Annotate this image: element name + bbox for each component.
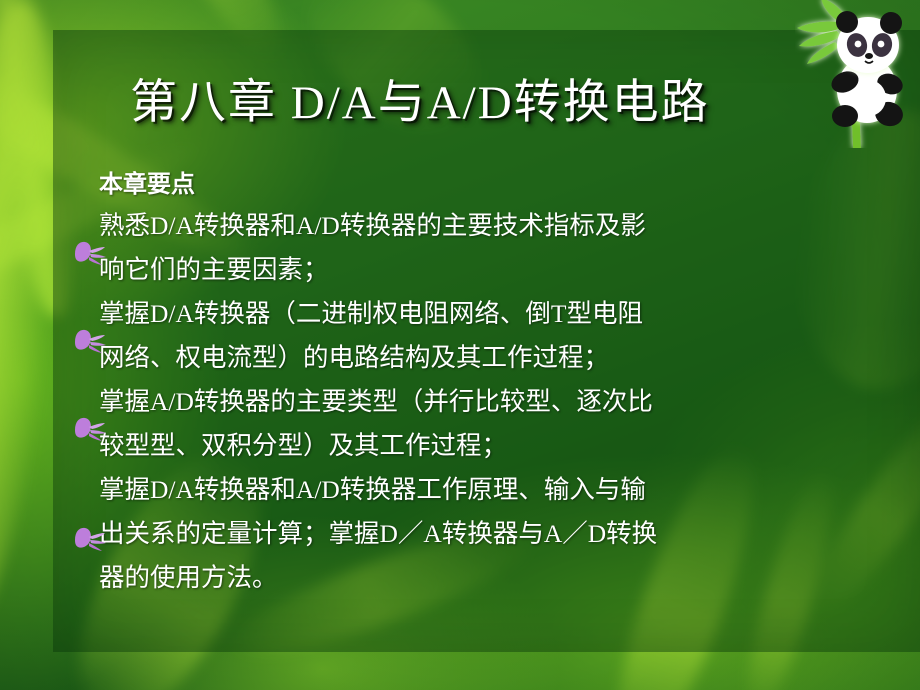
list-item: 熟悉D/A转换器和A/D转换器的主要技术指标及影 响它们的主要因素； (86, 204, 826, 292)
key-points-list: 熟悉D/A转换器和A/D转换器的主要技术指标及影 响它们的主要因素； 掌握D/A… (86, 204, 826, 600)
point-line: 较型型、双积分型）及其工作过程； (99, 424, 826, 468)
point-line: 出关系的定量计算；掌握D／A转换器与A／D转换 (99, 512, 826, 556)
list-item: 掌握D/A转换器和A/D转换器工作原理、输入与输 出关系的定量计算；掌握D／A转… (86, 468, 826, 600)
slide-title: 第八章 D/A与A/D转换电路 (130, 74, 850, 132)
slide-canvas: 第八章 D/A与A/D转换电路 本章要点 熟悉D/A转换器和A/D转换器的主要技… (0, 0, 920, 690)
slide-body: 本章要点 熟悉D/A转换器和A/D转换器的主要技术指标及影 响它们的主要因素； (86, 170, 826, 600)
point-line: 器的使用方法。 (99, 556, 826, 600)
list-item: 掌握A/D转换器的主要类型（并行比较型、逐次比 较型型、双积分型）及其工作过程； (86, 380, 826, 468)
point-line: 熟悉D/A转换器和A/D转换器的主要技术指标及影 (99, 204, 826, 248)
point-line: 掌握D/A转换器（二进制权电阻网络、倒T型电阻 (99, 292, 826, 336)
section-heading: 本章要点 (99, 170, 826, 200)
point-line: 网络、权电流型）的电路结构及其工作过程； (99, 336, 826, 380)
point-line: 掌握A/D转换器的主要类型（并行比较型、逐次比 (99, 380, 826, 424)
point-line: 响它们的主要因素； (99, 248, 826, 292)
point-line: 掌握D/A转换器和A/D转换器工作原理、输入与输 (99, 468, 826, 512)
list-item: 掌握D/A转换器（二进制权电阻网络、倒T型电阻 网络、权电流型）的电路结构及其工… (86, 292, 826, 380)
